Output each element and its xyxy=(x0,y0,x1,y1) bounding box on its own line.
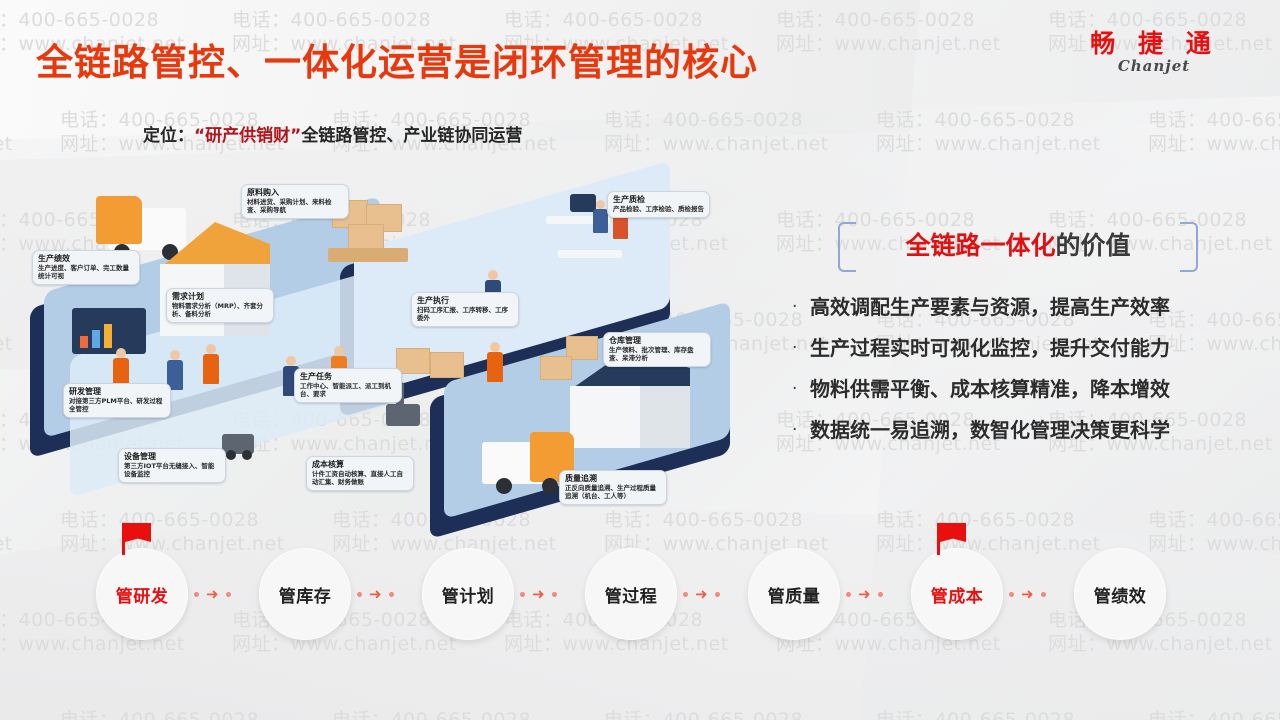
value-heading-rest: 的价值 xyxy=(1056,231,1131,260)
bullet-dot-icon: · xyxy=(792,378,810,400)
diagram-callout: 生产质检产品检验、工序检验、质检报告 xyxy=(607,191,710,218)
watermark-text: 电话：400-665-0028网址：www.chanjet.net xyxy=(604,708,829,720)
watermark-text: 电话：400-665-0028网址：www.chanjet.net xyxy=(1148,708,1280,720)
value-bullet-list: ·高效调配生产要素与资源，提高生产效率·生产过程实时可视化监控，提升交付能力·物… xyxy=(782,296,1242,442)
callout-description: 正反向质量追溯、生产过程质量追溯（机台、工人等） xyxy=(565,484,661,500)
diagram-callout: 需求计划物料需求分析（MRP）、齐套分析、备料分析 xyxy=(166,288,274,323)
chain-node-管成本[interactable]: 管成本 xyxy=(911,548,1003,640)
chain-node-管过程[interactable]: 管过程 xyxy=(585,548,677,640)
callout-description: 对接第三方PLM平台、研发过程全管控 xyxy=(69,397,165,413)
office-desk xyxy=(558,250,622,258)
chain-node-管研发[interactable]: 管研发 xyxy=(96,548,188,640)
diagram-callout: 设备管理第三方IOT平台无缝接入、智能设备监控 xyxy=(118,448,226,483)
callout-title: 生产绩效 xyxy=(38,254,134,264)
callout-title: 生产执行 xyxy=(417,296,513,306)
arrow-right-icon: ➜ xyxy=(532,588,545,600)
carton xyxy=(540,356,572,380)
connector-dot-icon xyxy=(357,592,362,597)
page-title: 全链路管控、一体化运营是闭环管理的核心 xyxy=(36,32,758,86)
value-heading-emphasis: 全链路一体化 xyxy=(905,231,1055,260)
chain-node-管库存[interactable]: 管库存 xyxy=(259,548,351,640)
callout-description: 扫码工序汇报、工序转移、工序委外 xyxy=(417,306,513,322)
watermark-text: 电话：400-665-0028网址：www.chanjet.net xyxy=(604,108,829,156)
connector-dot-icon xyxy=(389,592,394,597)
connector-dot-icon xyxy=(520,592,525,597)
callout-title: 生产质检 xyxy=(613,195,704,205)
warehouse-wall-side xyxy=(640,386,690,448)
diagram-callout: 原料购入材料进货、采购计划、来料检查、采购导航 xyxy=(241,184,349,219)
watermark-text: 电话：400-665-0028网址：www.chanjet.net xyxy=(1148,108,1280,156)
logo-text-cn: 畅 捷 通 xyxy=(1074,30,1234,58)
watermark-text: 电话：400-665-0028网址：www.chanjet.net xyxy=(60,708,285,720)
value-bullet-item: ·数据统一易追溯，数智化管理决策更科学 xyxy=(792,419,1242,442)
callout-description: 计件工资自动核算、直接人工自动汇集、财务做账 xyxy=(312,470,408,486)
subtitle-suffix: 全链路管控、产业链协同运营 xyxy=(301,126,522,146)
agv-wheel xyxy=(242,450,252,460)
connector-dot-icon xyxy=(194,592,199,597)
slide-canvas: 电话：400-665-0028网址：www.chanjet.net电话：400-… xyxy=(0,0,1280,720)
chain-node-label: 管库存 xyxy=(279,582,332,607)
diagram-callout: 生产任务工作中心、智能派工、派工到机台、要求 xyxy=(294,368,402,403)
watermark-text: 电话：400-665-0028网址：www.chanjet.net xyxy=(0,108,13,156)
truck-cab-top xyxy=(96,196,142,244)
callout-title: 设备管理 xyxy=(124,452,220,462)
callout-title: 质量追溯 xyxy=(565,474,661,484)
value-panel-heading: 全链路一体化的价值 xyxy=(842,222,1194,268)
value-bullet-item: ·物料供需平衡、成本核算精准，降本增效 xyxy=(792,378,1242,401)
warehouse-wall-front xyxy=(570,386,640,448)
watermark-text: 电话：400-665-0028网址：www.chanjet.net xyxy=(876,108,1101,156)
chart-bar xyxy=(92,330,100,348)
truck-wheel xyxy=(542,478,558,494)
chain-node-管绩效[interactable]: 管绩效 xyxy=(1074,548,1166,640)
agv-wheel xyxy=(226,450,236,460)
pallet xyxy=(328,248,408,262)
callout-description: 生产领料、批次管理、库存盘查、呆滞分析 xyxy=(609,346,705,362)
callout-description: 生产进度、客户订单、完工数量统计可视 xyxy=(38,264,134,280)
diagram-callout: 生产绩效生产进度、客户订单、完工数量统计可视 xyxy=(32,250,140,285)
value-bullet-text: 生产过程实时可视化监控，提升交付能力 xyxy=(810,337,1170,360)
truck-wheel xyxy=(496,478,512,494)
watermark-text: 电话：400-665-0028网址：www.chanjet.net xyxy=(876,708,1101,720)
callout-description: 第三方IOT平台无缝接入、智能设备监控 xyxy=(124,462,220,478)
callout-title: 成本核算 xyxy=(312,460,408,470)
chain-node-label: 管质量 xyxy=(768,582,821,607)
robot-arm-base xyxy=(386,404,420,426)
bullet-dot-icon: · xyxy=(792,337,810,359)
callout-description: 工作中心、智能派工、派工到机台、要求 xyxy=(300,382,396,398)
value-bullet-item: ·高效调配生产要素与资源，提高生产效率 xyxy=(792,296,1242,319)
chain-node-label: 管绩效 xyxy=(1094,582,1147,607)
connector-dot-icon xyxy=(878,592,883,597)
office-monitor xyxy=(570,194,596,212)
brand-logo: 畅 捷 通 Chanjet xyxy=(1074,30,1234,75)
chain-node-管质量[interactable]: 管质量 xyxy=(748,548,840,640)
callout-title: 原料购入 xyxy=(247,188,343,198)
connector-dot-icon xyxy=(552,592,557,597)
carton xyxy=(430,352,464,378)
diagram-callout: 研发管理对接第三方PLM平台、研发过程全管控 xyxy=(63,383,171,418)
callout-title: 研发管理 xyxy=(69,387,165,397)
arrow-right-icon: ➜ xyxy=(1021,588,1034,600)
arrow-right-icon: ➜ xyxy=(206,588,219,600)
chain-node-label: 管过程 xyxy=(605,582,658,607)
callout-title: 生产任务 xyxy=(300,372,396,382)
diagram-callout: 质量追溯正反向质量追溯、生产过程质量追溯（机台、工人等） xyxy=(559,470,667,505)
connector-dot-icon xyxy=(1041,592,1046,597)
bullet-dot-icon: · xyxy=(792,296,810,318)
watermark-text: 电话：400-665-0028网址：www.chanjet.net xyxy=(332,708,557,720)
chain-node-label: 管研发 xyxy=(116,582,169,607)
arrow-right-icon: ➜ xyxy=(858,588,871,600)
chain-connector: ➜ xyxy=(846,588,883,600)
diagram-callout: 成本核算计件工资自动核算、直接人工自动汇集、财务做账 xyxy=(306,456,414,491)
logo-text-en: Chanjet xyxy=(1074,57,1234,75)
callout-description: 产品检验、工序检验、质检报告 xyxy=(613,205,704,213)
chart-bar xyxy=(104,324,112,348)
connector-dot-icon xyxy=(683,592,688,597)
subtitle-prefix: 定位： xyxy=(143,126,194,146)
flag-icon xyxy=(937,523,967,555)
arrow-right-icon: ➜ xyxy=(369,588,382,600)
value-bullet-text: 高效调配生产要素与资源，提高生产效率 xyxy=(810,296,1170,319)
callout-title: 仓库管理 xyxy=(609,336,705,346)
process-chain: 管研发➜管库存➜管计划➜管过程➜管质量➜管成本➜管绩效 xyxy=(0,548,1280,658)
callout-description: 物料需求分析（MRP）、齐套分析、备料分析 xyxy=(172,302,268,318)
chain-connector: ➜ xyxy=(357,588,394,600)
bullet-dot-icon: · xyxy=(792,419,810,441)
value-bullet-text: 数据统一易追溯，数智化管理决策更科学 xyxy=(810,419,1170,442)
chain-connector: ➜ xyxy=(683,588,720,600)
value-bullet-item: ·生产过程实时可视化监控，提升交付能力 xyxy=(792,337,1242,360)
chain-connector: ➜ xyxy=(520,588,557,600)
chart-bar xyxy=(80,336,88,348)
connector-dot-icon xyxy=(715,592,720,597)
carton xyxy=(396,348,430,374)
chain-node-label: 管成本 xyxy=(931,582,984,607)
connector-dot-icon xyxy=(1009,592,1014,597)
subtitle: 定位：“研产供销财”全链路管控、产业链协同运营 xyxy=(143,121,522,146)
diagram-callout: 生产执行扫码工序汇报、工序转移、工序委外 xyxy=(411,292,519,327)
watermark-text: 电话：400-665-0028网址：www.chanjet.net xyxy=(0,708,13,720)
chain-connector: ➜ xyxy=(194,588,231,600)
connector-dot-icon xyxy=(226,592,231,597)
diagram-callout: 仓库管理生产领料、批次管理、库存盘查、呆滞分析 xyxy=(603,332,711,367)
value-panel: 全链路一体化的价值 ·高效调配生产要素与资源，提高生产效率·生产过程实时可视化监… xyxy=(782,222,1242,460)
subtitle-emphasis: “研产供销财” xyxy=(194,126,301,146)
arrow-right-icon: ➜ xyxy=(695,588,708,600)
callout-description: 材料进货、采购计划、来料检查、采购导航 xyxy=(247,198,343,214)
callout-title: 需求计划 xyxy=(172,292,268,302)
value-bullet-text: 物料供需平衡、成本核算精准，降本增效 xyxy=(810,378,1170,401)
flag-icon xyxy=(122,523,152,555)
chain-node-label: 管计划 xyxy=(442,582,495,607)
chain-node-管计划[interactable]: 管计划 xyxy=(422,548,514,640)
connector-dot-icon xyxy=(846,592,851,597)
chain-connector: ➜ xyxy=(1009,588,1046,600)
watermark-text: 电话：400-665-0028网址：www.chanjet.net xyxy=(776,8,1001,56)
